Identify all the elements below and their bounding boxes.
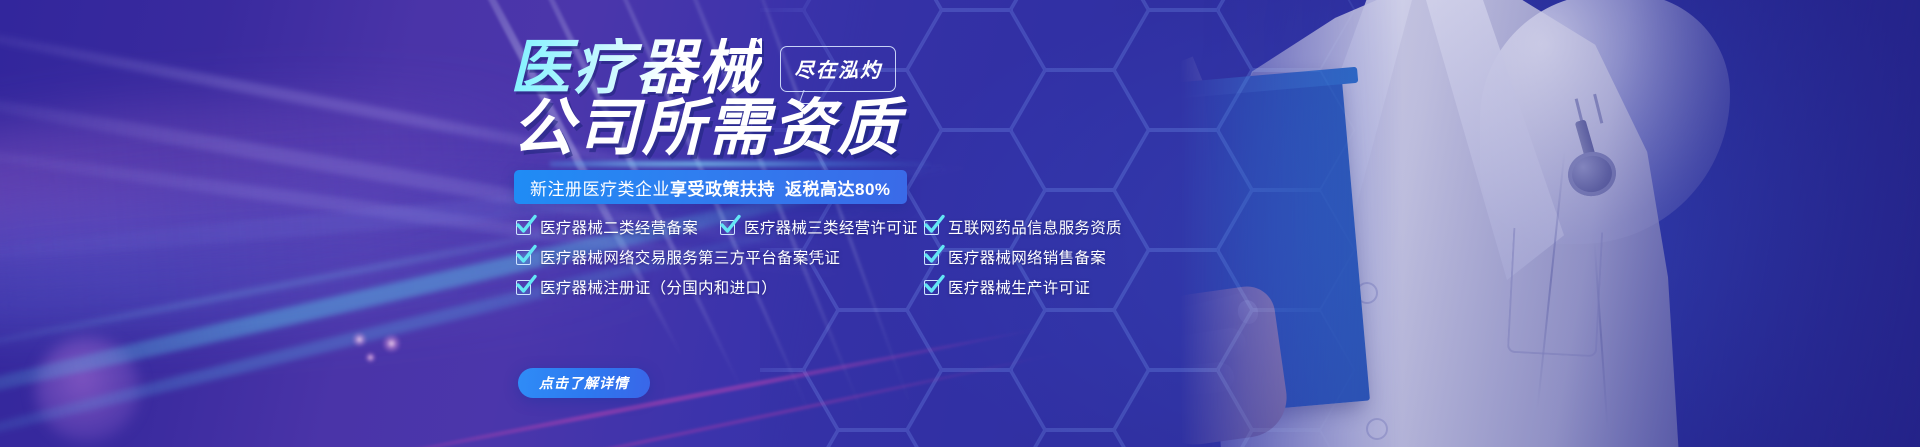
check-icon: [515, 274, 537, 296]
check-icon: [923, 214, 945, 236]
checkbox-checked-icon: [516, 280, 531, 295]
glow-dot-3: [365, 352, 376, 363]
checklist-item-label: 医疗器械注册证（分国内和进口）: [540, 276, 777, 298]
checkbox-checked-icon: [924, 250, 939, 265]
check-icon: [719, 214, 741, 236]
checklist-item[interactable]: 医疗器械网络销售备案: [924, 246, 1106, 268]
promo-banner: 医疗器械 尽在泓灼 公司所需资质 新注册医疗类企业 享受政策扶持 返税高达80%…: [0, 0, 1920, 447]
checkbox-checked-icon: [924, 220, 939, 235]
checklist-item-label: 医疗器械网络销售备案: [948, 246, 1106, 268]
checklist-item[interactable]: 医疗器械二类经营备案: [516, 216, 698, 238]
checklist-row: 医疗器械注册证（分国内和进口）医疗器械生产许可证: [516, 276, 1286, 298]
checklist-column-right: 互联网药品信息服务资质: [924, 216, 1122, 238]
glow-dot-1: [352, 332, 367, 347]
light-swoosh-1: [0, 72, 584, 258]
ribbon-normal-text: 新注册医疗类企业: [530, 175, 670, 200]
checklist-item[interactable]: 医疗器械注册证（分国内和进口）: [516, 276, 777, 298]
checkbox-checked-icon: [924, 280, 939, 295]
checklist-item-label: 医疗器械二类经营备案: [540, 216, 698, 238]
checklist-item[interactable]: 医疗器械三类经营许可证: [720, 216, 918, 238]
checklist-column-right: 医疗器械网络销售备案: [924, 246, 1106, 268]
doctor-photo: [1180, 0, 1920, 447]
checklist-row: 医疗器械二类经营备案医疗器械三类经营许可证互联网药品信息服务资质: [516, 216, 1286, 238]
checklist-column-left: 医疗器械注册证（分国内和进口）: [516, 276, 924, 298]
checklist-item-label: 医疗器械生产许可证: [948, 276, 1090, 298]
qualification-list: 医疗器械二类经营备案医疗器械三类经营许可证互联网药品信息服务资质医疗器械网络交易…: [516, 216, 1286, 306]
check-icon: [515, 214, 537, 236]
headline-line-2: 公司所需资质: [512, 98, 902, 160]
glow-dot-2: [382, 334, 401, 353]
checklist-column-right: 医疗器械生产许可证: [924, 276, 1090, 298]
headline-line-1: 医疗器械: [510, 38, 762, 98]
learn-more-button[interactable]: 点击了解详情: [518, 368, 650, 398]
checklist-item[interactable]: 互联网药品信息服务资质: [924, 216, 1122, 238]
check-icon: [515, 244, 537, 266]
checkbox-checked-icon: [720, 220, 735, 235]
checklist-column-left: 医疗器械二类经营备案医疗器械三类经营许可证: [516, 216, 924, 238]
ribbon-bold-text: 享受政策扶持: [670, 175, 775, 200]
checklist-item-label: 互联网药品信息服务资质: [948, 216, 1122, 238]
checkbox-checked-icon: [516, 220, 531, 235]
check-icon: [923, 244, 945, 266]
checklist-item[interactable]: 医疗器械网络交易服务第三方平台备案凭证: [516, 246, 840, 268]
subtitle-ribbon: 新注册医疗类企业 享受政策扶持 返税高达80%: [514, 170, 907, 204]
purple-orb: [35, 337, 140, 442]
brand-badge: 尽在泓灼: [780, 46, 896, 92]
checklist-column-left: 医疗器械网络交易服务第三方平台备案凭证: [516, 246, 924, 268]
checklist-row: 医疗器械网络交易服务第三方平台备案凭证医疗器械网络销售备案: [516, 246, 1286, 268]
banner-content: 医疗器械 尽在泓灼 公司所需资质 新注册医疗类企业 享受政策扶持 返税高达80%…: [510, 0, 1290, 447]
photo-color-overlay: [1180, 0, 1920, 447]
checklist-item-label: 医疗器械三类经营许可证: [744, 216, 918, 238]
headline-row: 医疗器械 尽在泓灼: [510, 38, 896, 98]
checklist-item[interactable]: 医疗器械生产许可证: [924, 276, 1090, 298]
check-icon: [923, 274, 945, 296]
ribbon-highlight-text: 返税高达80%: [785, 175, 891, 200]
checkbox-checked-icon: [516, 250, 531, 265]
checklist-item-label: 医疗器械网络交易服务第三方平台备案凭证: [540, 246, 840, 268]
headline-underglow: [550, 160, 930, 168]
